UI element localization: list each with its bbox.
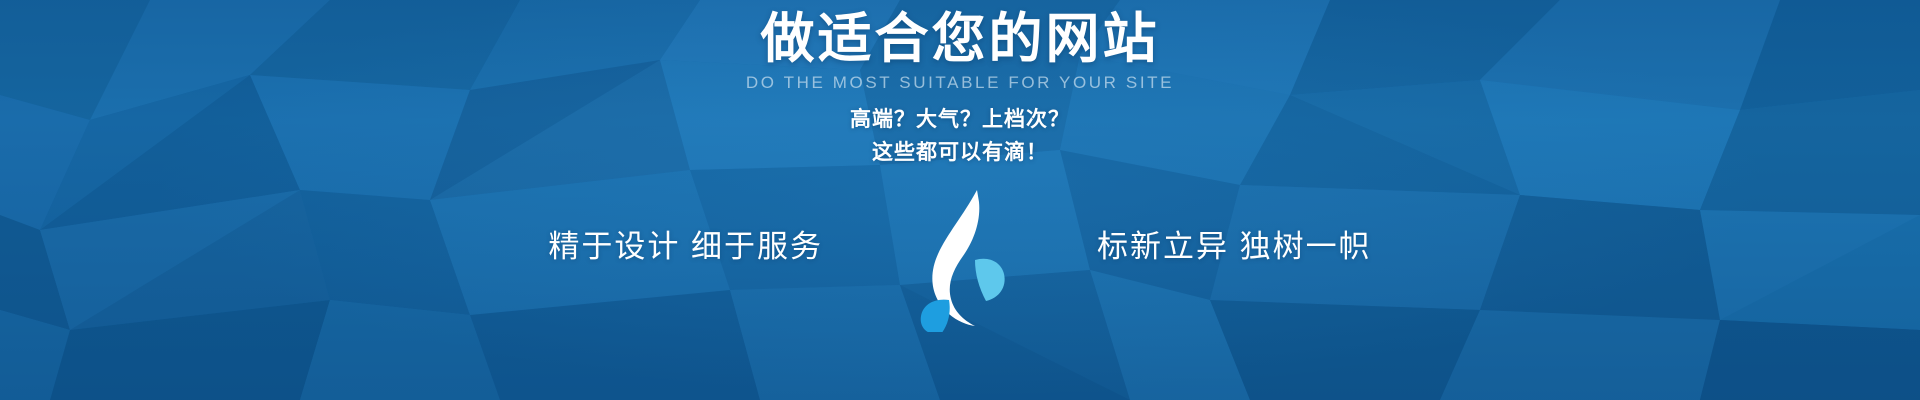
slogan-line-2: 这些都可以有滴！ [0, 137, 1920, 170]
banner-content: 做适合您的网站 DO THE MOST SUITABLE FOR YOUR SI… [0, 0, 1920, 400]
brand-logo [905, 182, 1015, 332]
english-subtitle: DO THE MOST SUITABLE FOR YOUR SITE [0, 73, 1920, 93]
slogan-block: 高端？大气？上档次？ 这些都可以有滴！ [0, 104, 1920, 169]
page-title: 做适合您的网站 [0, 8, 1920, 70]
tagline-left: 精于设计 细于服务 [548, 221, 823, 266]
promo-banner: 做适合您的网站 DO THE MOST SUITABLE FOR YOUR SI… [0, 0, 1920, 400]
tagline-row: 精于设计 细于服务 标新立异 独树一帜 [0, 178, 1920, 308]
tagline-right: 标新立异 独树一帜 [1097, 221, 1372, 266]
leaf-swoosh-logo-icon [905, 182, 1015, 332]
slogan-line-1: 高端？大气？上档次？ [0, 104, 1920, 137]
